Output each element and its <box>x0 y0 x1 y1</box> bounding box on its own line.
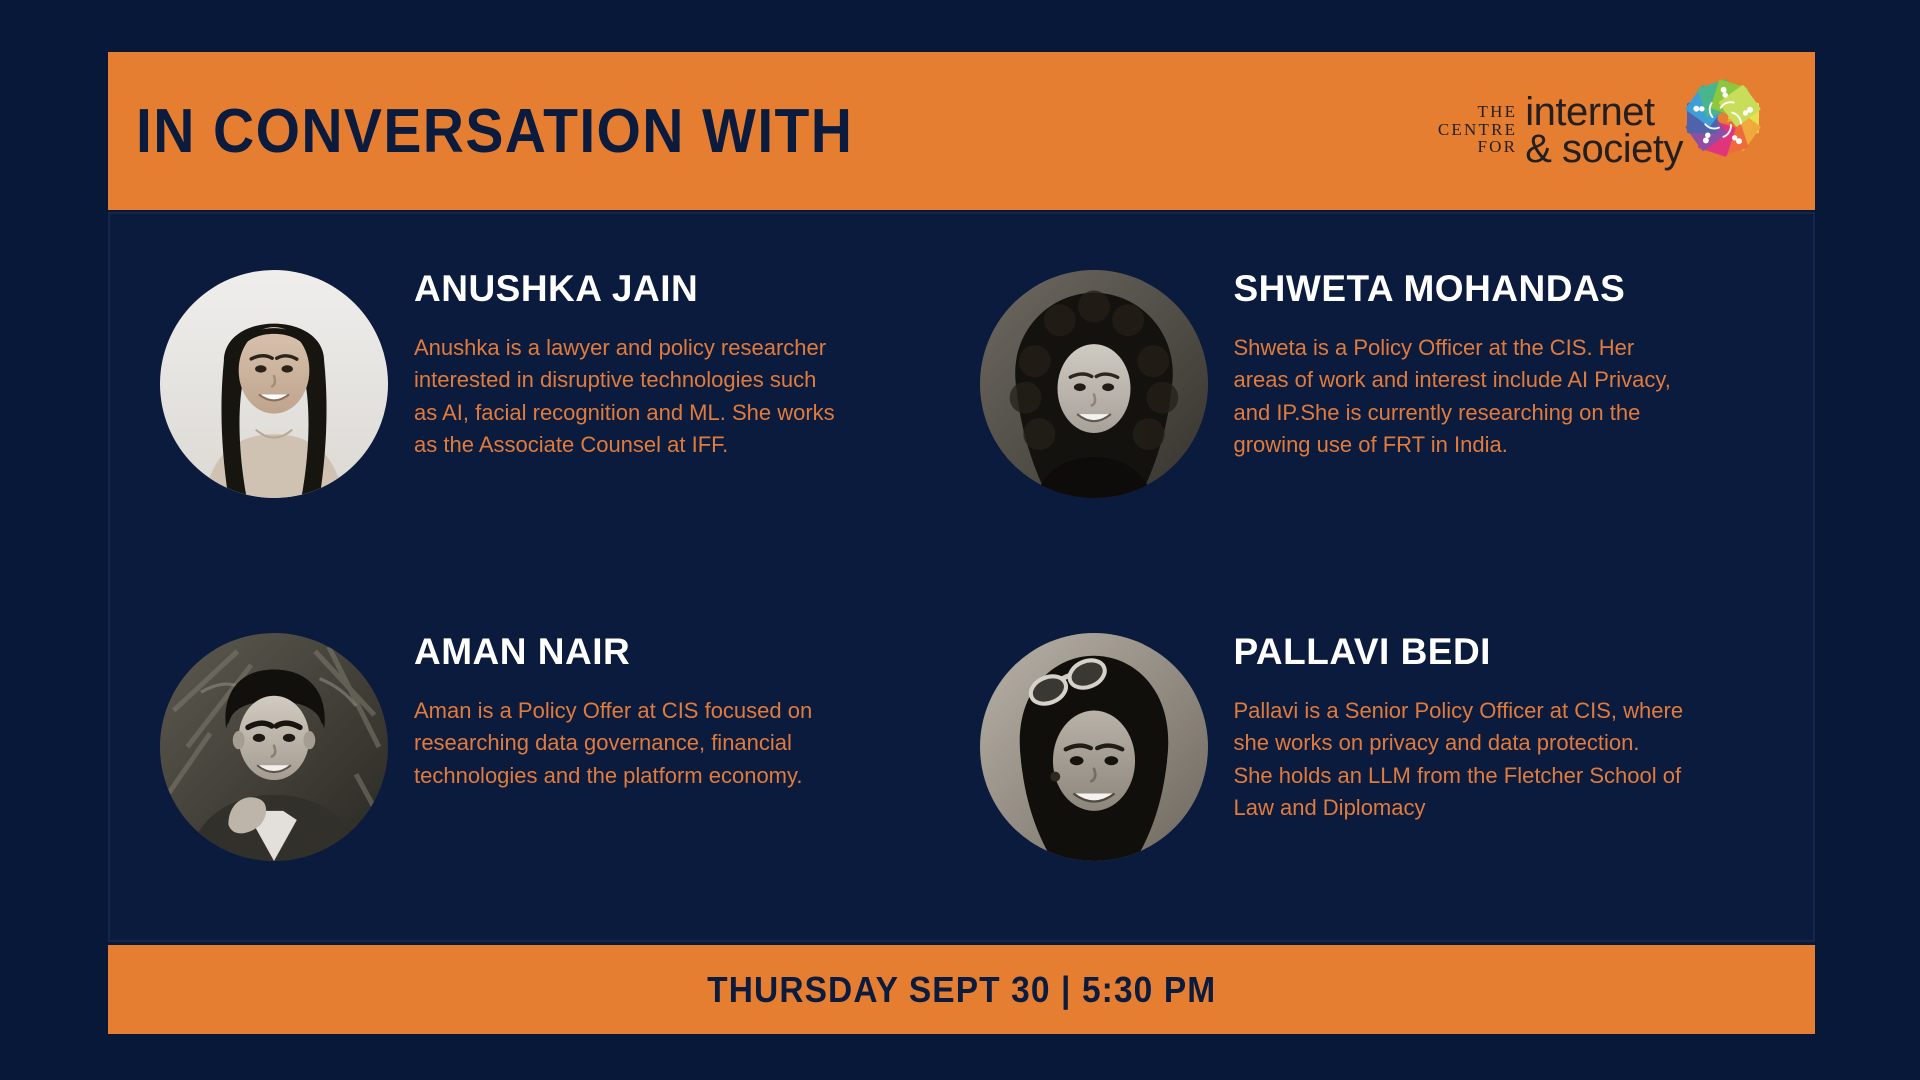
portrait-anushka-jain <box>160 270 388 498</box>
logo-word-internet: internet <box>1525 94 1683 131</box>
portrait-shweta-mohandas <box>980 270 1208 498</box>
logo-prefix-lines: THE CENTRE FOR <box>1438 103 1517 160</box>
speaker-grid: ANUSHKA JAIN Anushka is a lawyer and pol… <box>110 214 1813 940</box>
speaker-bio: Pallavi is a Senior Policy Officer at CI… <box>1234 695 1684 824</box>
portrait-pallavi-bedi <box>980 633 1208 861</box>
logo-line-for: FOR <box>1478 138 1518 156</box>
speaker-card: PALLAVI BEDI Pallavi is a Senior Policy … <box>962 577 1814 940</box>
speaker-card: AMAN NAIR Aman is a Policy Offer at CIS … <box>110 577 962 940</box>
speaker-bio: Aman is a Policy Offer at CIS focused on… <box>414 695 844 792</box>
speaker-name: SHWETA MOHANDAS <box>1234 268 1790 310</box>
page-title: IN CONVERSATION WITH <box>136 96 853 167</box>
speaker-card: ANUSHKA JAIN Anushka is a lawyer and pol… <box>110 214 962 577</box>
speaker-text: PALLAVI BEDI Pallavi is a Senior Policy … <box>1234 595 1790 824</box>
speaker-text: AMAN NAIR Aman is a Policy Offer at CIS … <box>414 595 938 792</box>
speaker-name: ANUSHKA JAIN <box>414 268 938 310</box>
logo-main-words: internet & society <box>1525 94 1683 168</box>
speaker-name: AMAN NAIR <box>414 631 938 673</box>
speaker-bio: Anushka is a lawyer and policy researche… <box>414 332 844 461</box>
cis-logo: THE CENTRE FOR internet & society <box>1438 71 1777 191</box>
event-poster: IN CONVERSATION WITH THE CENTRE FOR inte… <box>0 0 1920 1080</box>
logo-word-society: & society <box>1525 131 1683 168</box>
speaker-name: PALLAVI BEDI <box>1234 631 1790 673</box>
logo-wordmark: THE CENTRE FOR internet & society <box>1438 94 1683 168</box>
speakers-panel: ANUSHKA JAIN Anushka is a lawyer and pol… <box>108 212 1815 942</box>
footer-band: THURSDAY SEPT 30 | 5:30 PM <box>108 945 1815 1034</box>
cis-pinwheel-mandala-icon <box>1669 64 1777 172</box>
speaker-text: ANUSHKA JAIN Anushka is a lawyer and pol… <box>414 232 938 461</box>
speaker-bio: Shweta is a Policy Officer at the CIS. H… <box>1234 332 1684 461</box>
portrait-aman-nair <box>160 633 388 861</box>
header-band: IN CONVERSATION WITH THE CENTRE FOR inte… <box>108 52 1815 210</box>
speaker-text: SHWETA MOHANDAS Shweta is a Policy Offic… <box>1234 232 1790 461</box>
logo-line-the: THE <box>1478 103 1518 121</box>
event-datetime: THURSDAY SEPT 30 | 5:30 PM <box>707 969 1216 1011</box>
speaker-card: SHWETA MOHANDAS Shweta is a Policy Offic… <box>962 214 1814 577</box>
logo-line-centre: CENTRE <box>1438 121 1517 139</box>
